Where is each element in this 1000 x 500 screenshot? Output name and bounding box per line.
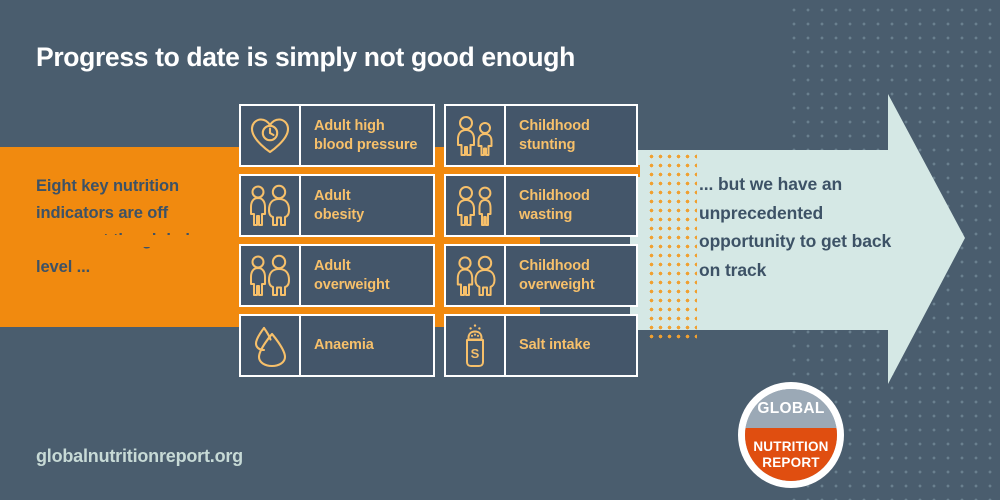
- indicator-label: Adult overweight: [301, 244, 435, 307]
- arrow-message: ... but we have an unprecedented opportu…: [699, 170, 909, 284]
- indicator-row-childhood-stunting[interactable]: Childhood stunting: [444, 104, 638, 167]
- label-line-2: overweight: [314, 276, 390, 294]
- label-line-1: Salt intake: [519, 336, 590, 354]
- label-line-2: obesity: [314, 206, 364, 224]
- indicator-label: Adult high blood pressure: [301, 104, 435, 167]
- logo-text-nutrition: NUTRITION: [753, 439, 828, 454]
- indicator-label: Anaemia: [301, 314, 435, 377]
- footer-website-url[interactable]: globalnutritionreport.org: [36, 446, 243, 467]
- label-line-1: Adult: [314, 257, 390, 275]
- label-line-2: overweight: [519, 276, 595, 294]
- two-children-wasting-icon: [444, 174, 506, 237]
- logo-text-global: GLOBAL: [757, 400, 824, 418]
- two-adults-obese-icon: [239, 174, 301, 237]
- label-line-1: Adult high: [314, 117, 417, 135]
- indicator-label: Childhood stunting: [506, 104, 638, 167]
- two-children-overweight-icon: [444, 244, 506, 307]
- label-line-1: Anaemia: [314, 336, 374, 354]
- indicator-row-adult-obesity[interactable]: Adult obesity: [239, 174, 435, 237]
- indicator-row-salt-intake[interactable]: S Salt intake: [444, 314, 638, 377]
- indicator-row-adult-overweight[interactable]: Adult overweight: [239, 244, 435, 307]
- two-children-stunting-icon: [444, 104, 506, 167]
- indicator-label: Childhood overweight: [506, 244, 638, 307]
- logo-text-report: REPORT: [762, 455, 819, 470]
- global-nutrition-report-logo[interactable]: GLOBAL NUTRITION REPORT: [738, 382, 844, 488]
- label-line-2: wasting: [519, 206, 590, 224]
- heart-rate-icon: [239, 104, 301, 167]
- label-line-1: Childhood: [519, 257, 595, 275]
- indicator-row-anaemia[interactable]: Anaemia: [239, 314, 435, 377]
- label-line-2: stunting: [519, 136, 590, 154]
- salt-shaker-icon: S: [444, 314, 506, 377]
- arrow-orange-dot-pattern: [645, 150, 697, 340]
- label-line-1: Adult: [314, 187, 364, 205]
- blood-drops-icon: [239, 314, 301, 377]
- indicator-row-adult-high-blood-pressure[interactable]: Adult high blood pressure: [239, 104, 435, 167]
- logo-top-band: GLOBAL: [745, 389, 837, 428]
- indicator-label: Adult obesity: [301, 174, 435, 237]
- logo-inner-disc: GLOBAL NUTRITION REPORT: [745, 389, 837, 481]
- label-line-1: Childhood: [519, 187, 590, 205]
- left-panel-message: Eight key nutrition indicators are off c…: [36, 173, 226, 281]
- page-title: Progress to date is simply not good enou…: [36, 42, 575, 73]
- label-line-1: Childhood: [519, 117, 590, 135]
- indicator-row-childhood-wasting[interactable]: Childhood wasting: [444, 174, 638, 237]
- indicator-label: Childhood wasting: [506, 174, 638, 237]
- logo-bottom-band: NUTRITION REPORT: [745, 428, 837, 481]
- indicator-label: Salt intake: [506, 314, 638, 377]
- infographic-canvas: ... but we have an unprecedented opportu…: [0, 0, 1000, 500]
- two-adults-overweight-icon: [239, 244, 301, 307]
- svg-text:S: S: [471, 346, 480, 361]
- label-line-2: blood pressure: [314, 136, 417, 154]
- indicator-row-childhood-overweight[interactable]: Childhood overweight: [444, 244, 638, 307]
